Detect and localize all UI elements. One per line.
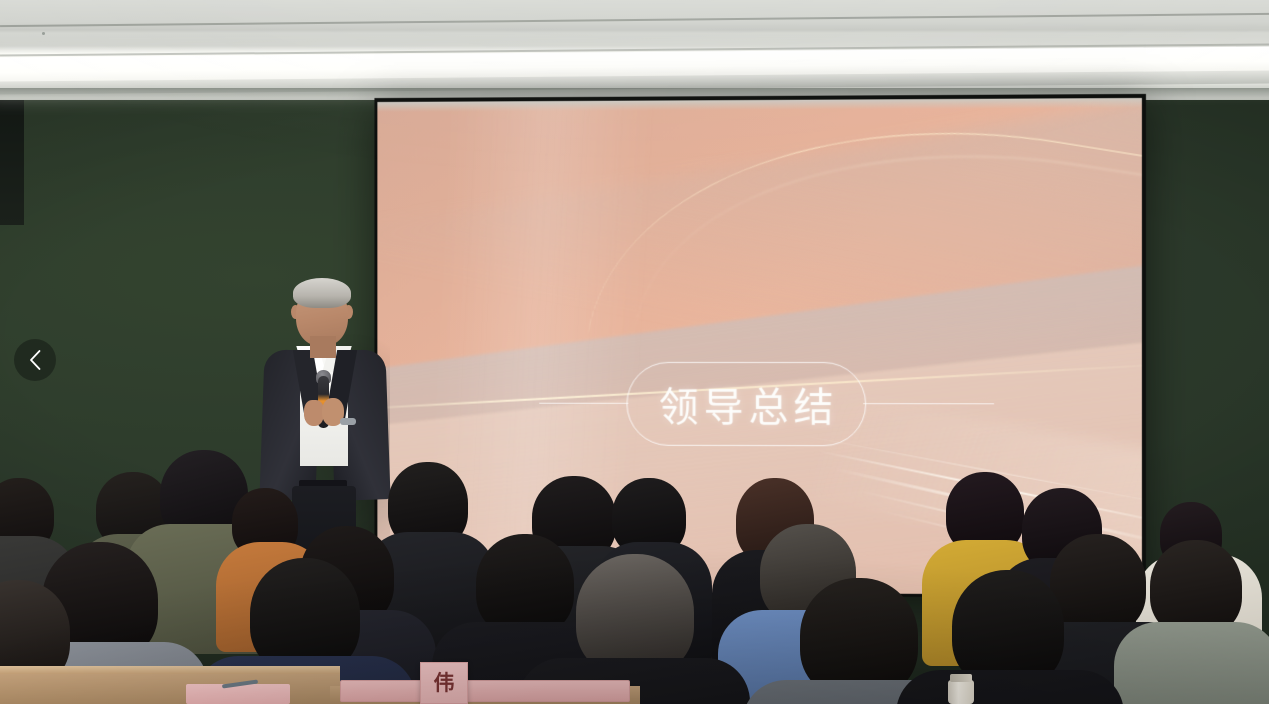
presenter-watch bbox=[340, 418, 356, 425]
presenter-neck bbox=[310, 336, 336, 358]
presenter-hand-left bbox=[304, 400, 324, 426]
slide-title-rule-left bbox=[539, 403, 628, 404]
name-placard: 伟 bbox=[420, 662, 468, 704]
audience bbox=[0, 430, 1269, 704]
ceiling bbox=[0, 0, 1269, 100]
audience-head bbox=[476, 534, 574, 636]
water-bottle-cap bbox=[950, 674, 972, 682]
water-bottle bbox=[948, 680, 974, 704]
audience-body bbox=[896, 670, 1124, 704]
desk-paper bbox=[186, 684, 290, 704]
presenter-hair bbox=[293, 278, 351, 308]
slide-title-text: 领导总结 bbox=[654, 375, 839, 433]
audience-body bbox=[1114, 622, 1269, 704]
chevron-left-icon bbox=[28, 349, 43, 371]
placard-rail-right bbox=[462, 680, 630, 702]
ceiling-screw bbox=[42, 32, 45, 35]
audience-head bbox=[1050, 534, 1146, 634]
previous-photo-button[interactable] bbox=[14, 339, 56, 381]
ceiling-seam bbox=[0, 13, 1269, 27]
wall-side-panel bbox=[0, 95, 24, 225]
name-placard-text: 伟 bbox=[434, 673, 455, 694]
placard-rail-left bbox=[340, 680, 426, 702]
front-desk-edge bbox=[0, 666, 340, 674]
slide-title-rule-right bbox=[863, 403, 994, 405]
presentation-photo: 领导总结 bbox=[0, 0, 1269, 704]
